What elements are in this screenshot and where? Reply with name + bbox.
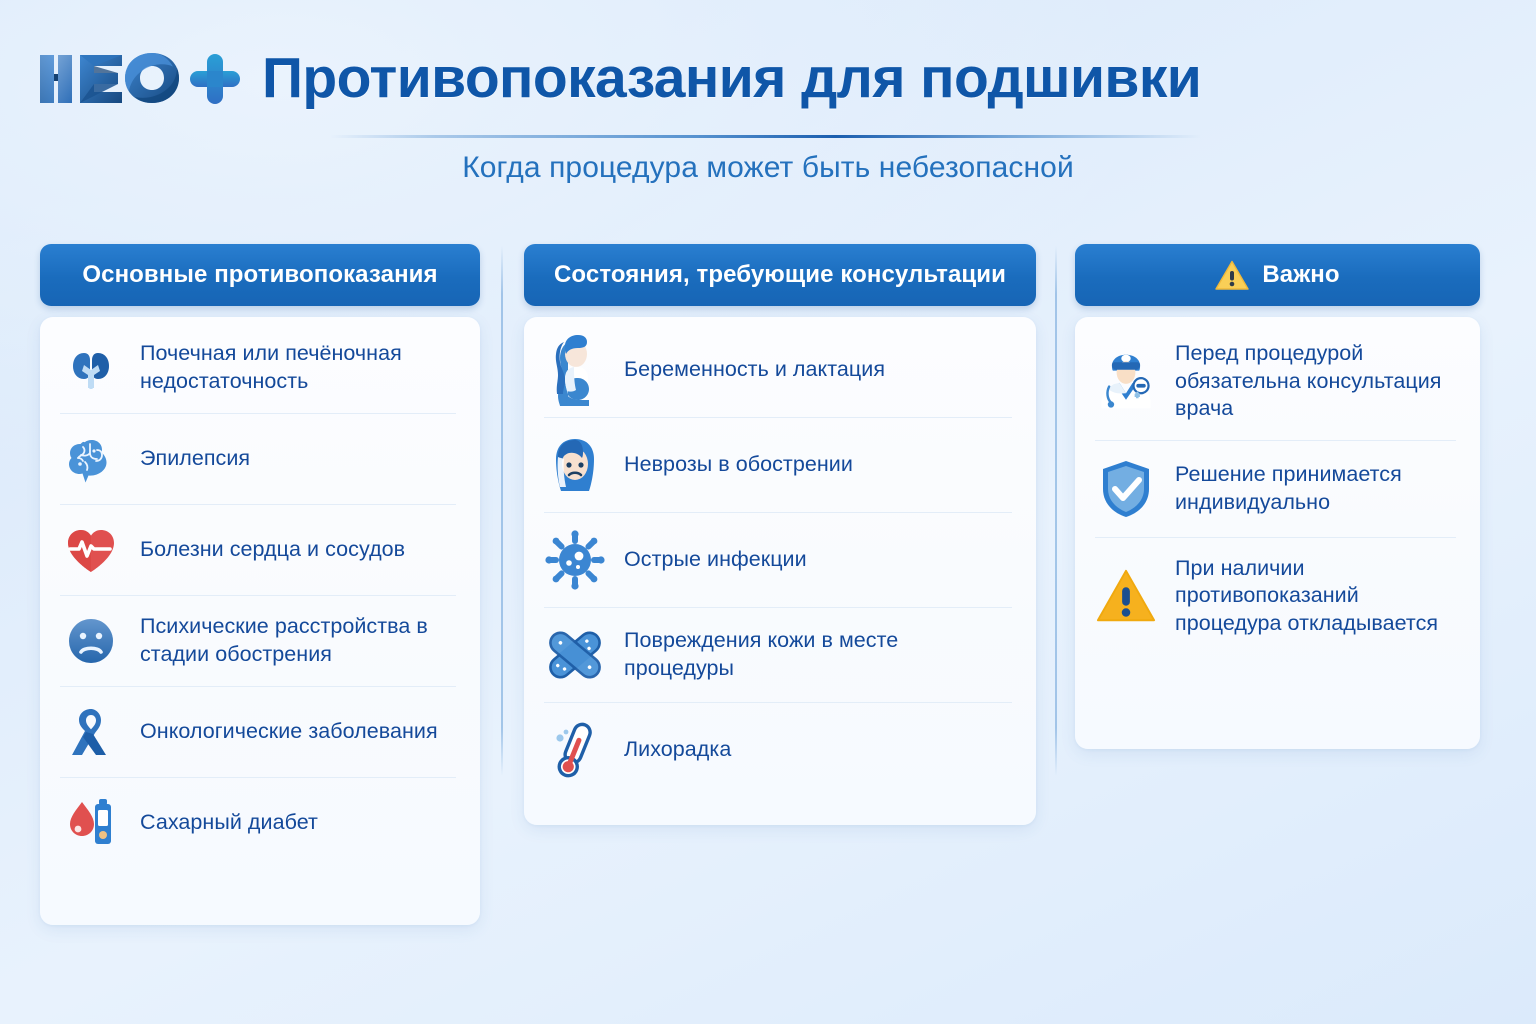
list-item-label: При наличии противопоказаний процедура о… (1175, 555, 1456, 638)
shield-check-icon (1095, 458, 1157, 520)
list-item[interactable]: Болезни сердца и сосудов (60, 505, 456, 596)
card-header-main-contraindications: Основные противопоказания (40, 244, 480, 306)
doctor-icon (1095, 350, 1157, 412)
brain-icon (60, 428, 122, 490)
pregnant-woman-icon (544, 339, 606, 401)
list-item[interactable]: Решение принимается индивидуально (1095, 441, 1456, 538)
card-header-title: Состояния, требующие консультации (554, 261, 1006, 289)
list-item[interactable]: Острые инфекции (544, 513, 1012, 608)
list-item-label: Решение принимается индивидуально (1175, 461, 1456, 516)
list-item[interactable]: Эпилепсия (60, 414, 456, 505)
card-header-title: Основные противопоказания (82, 261, 437, 289)
list-item-label: Неврозы в обострении (624, 451, 853, 479)
card-conditions-requiring-consultation: Состояния, требующие консультации (524, 244, 1036, 825)
list-item[interactable]: При наличии противопоказаний процедура о… (1095, 538, 1456, 655)
list-item[interactable]: Почечная или печёночная недостаточность (60, 323, 456, 414)
list-item-label: Острые инфекции (624, 546, 807, 574)
warning-triangle-icon (1095, 565, 1157, 627)
virus-icon (544, 529, 606, 591)
cards-board: Основные противопоказания Почечная или п… (0, 0, 1536, 1024)
thermometer-icon (544, 719, 606, 781)
list-item[interactable]: Лихорадка (544, 703, 1012, 797)
awareness-ribbon-icon (60, 701, 122, 763)
list-item-label: Перед процедурой обязательна консультаци… (1175, 340, 1456, 423)
list-item[interactable]: Сахарный диабет (60, 778, 456, 868)
list-item-label: Онкологические заболевания (140, 718, 438, 746)
list-item[interactable]: Психические расстройства в стадии обостр… (60, 596, 456, 687)
list-item[interactable]: Перед процедурой обязательна консультаци… (1095, 323, 1456, 441)
list-item[interactable]: Повреждения кожи в месте процедуры (544, 608, 1012, 703)
list-item[interactable]: Беременность и лактация (544, 323, 1012, 418)
heart-pulse-icon (60, 519, 122, 581)
list-item[interactable]: Онкологические заболевания (60, 687, 456, 778)
sad-face-icon (60, 610, 122, 672)
sad-woman-icon (544, 434, 606, 496)
list-item-label: Беременность и лактация (624, 356, 885, 384)
bandage-icon (544, 624, 606, 686)
card-body-main-contraindications: Почечная или печёночная недостаточность (40, 317, 480, 925)
card-main-contraindications: Основные противопоказания Почечная или п… (40, 244, 480, 925)
list-item-label: Почечная или печёночная недостаточность (140, 340, 456, 395)
card-body-important: Перед процедурой обязательна консультаци… (1075, 317, 1480, 749)
list-item-label: Болезни сердца и сосудов (140, 536, 405, 564)
card-body-conditions: Беременность и лактация Неврозы в обостр… (524, 317, 1036, 825)
list-item-label: Эпилепсия (140, 445, 250, 473)
list-item[interactable]: Неврозы в обострении (544, 418, 1012, 513)
card-header-conditions: Состояния, требующие консультации (524, 244, 1036, 306)
blood-drop-glucometer-icon (60, 792, 122, 854)
card-header-title: Важно (1262, 261, 1339, 289)
warning-triangle-icon (1215, 260, 1249, 291)
list-item-label: Лихорадка (624, 736, 731, 764)
list-item-label: Повреждения кожи в месте процедуры (624, 627, 1012, 682)
list-item-label: Сахарный диабет (140, 809, 318, 837)
list-item-label: Психические расстройства в стадии обостр… (140, 613, 456, 668)
card-important: Важно (1075, 244, 1480, 749)
card-header-important: Важно (1075, 244, 1480, 306)
kidneys-icon (60, 337, 122, 399)
